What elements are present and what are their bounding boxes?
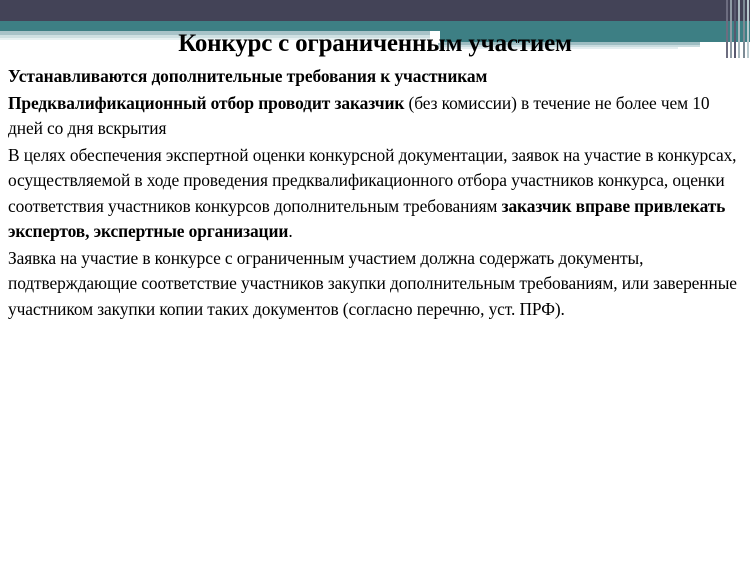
slide-canvas: Конкурс с ограниченным участием Устанавл… — [0, 0, 750, 561]
paragraph-experts-note: В целях обеспечения экспертной оценки ко… — [8, 143, 744, 245]
banner-band-dark — [0, 0, 750, 21]
paragraph-application-contents: Заявка на участие в конкурсе с ограничен… — [8, 246, 744, 323]
paragraph-requirements-note: Устанавливаются дополнительные требовани… — [8, 64, 744, 90]
slide-body: Устанавливаются дополнительные требовани… — [8, 64, 744, 322]
paragraph-prequalification-note: Предквалификационный отбор проводит зака… — [8, 91, 744, 142]
slide-title: Конкурс с ограниченным участием — [0, 30, 750, 59]
